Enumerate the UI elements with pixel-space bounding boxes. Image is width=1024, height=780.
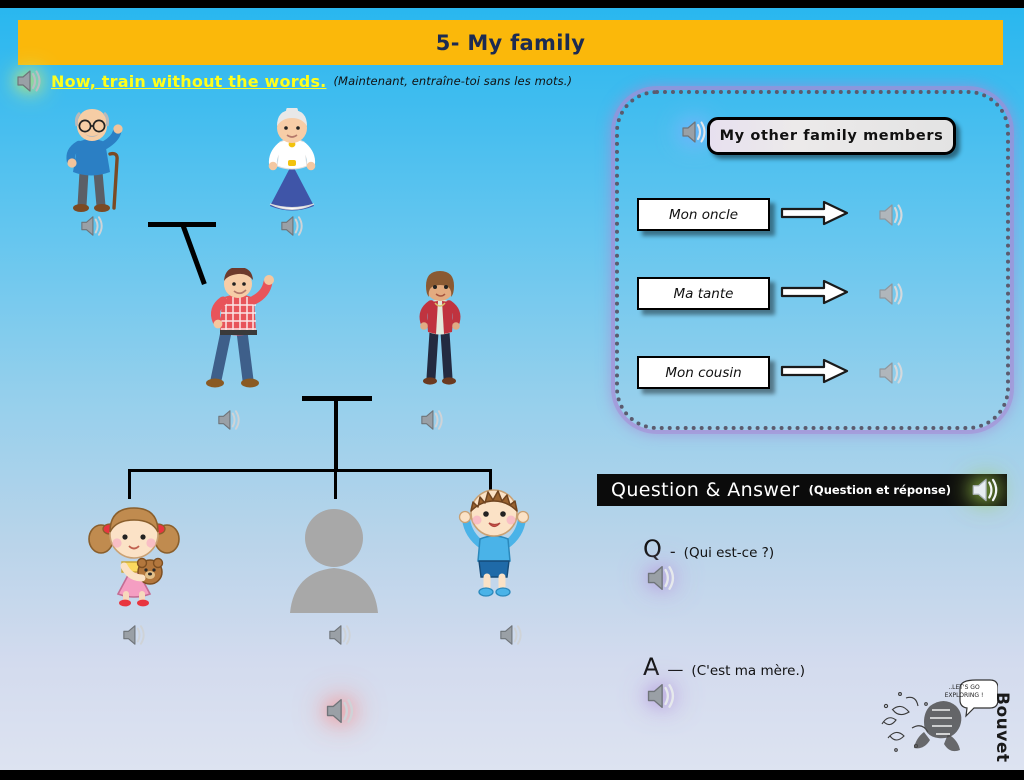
speaker-icon-answer[interactable] — [644, 681, 678, 711]
slide-canvas: 5- My family Now, train without the word… — [0, 8, 1024, 770]
tree-line-parents-stem — [334, 396, 338, 471]
other-members-header-label: My other family members — [720, 128, 944, 144]
question-letter: Q — [643, 535, 662, 563]
word-label-ma-tante: Ma tante — [674, 286, 734, 302]
logo-brand-text: Bouvet — [992, 692, 1012, 762]
sister-figure[interactable] — [88, 504, 180, 612]
answer-letter: A — [643, 653, 659, 681]
arrow-right-icon-mon-cousin — [780, 357, 850, 389]
speaker-icon-family-all[interactable] — [323, 696, 357, 726]
answer-line: A — (C'est ma mère.) — [643, 653, 805, 681]
tree-line-drop-self — [334, 469, 337, 499]
speaker-icon-brother[interactable] — [497, 623, 525, 647]
grandmother-figure[interactable] — [252, 108, 332, 222]
speaker-icon-grandmother[interactable] — [278, 214, 306, 238]
speaker-icon-question[interactable] — [644, 563, 678, 593]
grandfather-figure[interactable] — [58, 106, 134, 220]
brother-figure[interactable] — [452, 479, 536, 608]
page-title: 5- My family — [436, 31, 585, 55]
word-box-ma-tante[interactable]: Ma tante — [637, 277, 770, 310]
word-label-mon-cousin: Mon cousin — [665, 365, 741, 381]
arrow-right-icon-mon-oncle — [780, 199, 850, 231]
speaker-icon-grandfather[interactable] — [78, 214, 106, 238]
question-line: Q - (Qui est-ce ?) — [643, 535, 774, 563]
word-box-mon-oncle[interactable]: Mon oncle — [637, 198, 770, 231]
speaker-icon-other-members[interactable] — [679, 119, 709, 145]
bouvet-logo: ..LET'S GO EXPLORING ! Bouvet — [878, 676, 1014, 770]
word-label-mon-oncle: Mon oncle — [669, 207, 738, 223]
word-row-mon-cousin: Mon cousin — [637, 356, 906, 389]
qa-banner-french: (Question et réponse) — [809, 483, 951, 497]
speaker-icon-mon-oncle[interactable] — [876, 202, 906, 228]
speaker-icon-sister[interactable] — [120, 623, 148, 647]
question-dash: - — [670, 542, 676, 561]
self-silhouette-figure[interactable] — [280, 506, 388, 618]
tree-line-drop-sister — [128, 469, 131, 499]
speaker-icon-self[interactable] — [326, 623, 354, 647]
logo-bubble-text: ..LET'S GO EXPLORING ! — [940, 684, 988, 699]
question-text: (Qui est-ce ?) — [684, 545, 774, 561]
other-members-header-button[interactable]: My other family members — [707, 117, 956, 155]
tree-line-children-bar — [128, 469, 492, 472]
mother-figure[interactable] — [408, 270, 470, 396]
slide-title-bar: 5- My family — [18, 20, 1003, 65]
question-answer-banner: Question & Answer (Question et réponse) — [597, 474, 1007, 506]
word-box-mon-cousin[interactable]: Mon cousin — [637, 356, 770, 389]
arrow-right-icon-ma-tante — [780, 278, 850, 310]
answer-text: (C'est ma mère.) — [691, 663, 805, 679]
speaker-icon-mother[interactable] — [418, 408, 446, 432]
speaker-icon-mon-cousin[interactable] — [876, 360, 906, 386]
speaker-icon-qa-banner[interactable] — [969, 476, 1001, 504]
speaker-icon-ma-tante[interactable] — [876, 281, 906, 307]
word-row-mon-oncle: Mon oncle — [637, 198, 906, 231]
speaker-icon-father[interactable] — [215, 408, 243, 432]
other-family-members-panel: My other family members Mon oncle — [615, 90, 1010, 430]
word-row-ma-tante: Ma tante — [637, 277, 906, 310]
qa-banner-english: Question & Answer — [611, 479, 800, 501]
father-figure[interactable] — [200, 268, 280, 400]
answer-dash: — — [667, 660, 683, 679]
family-tree — [0, 86, 600, 766]
